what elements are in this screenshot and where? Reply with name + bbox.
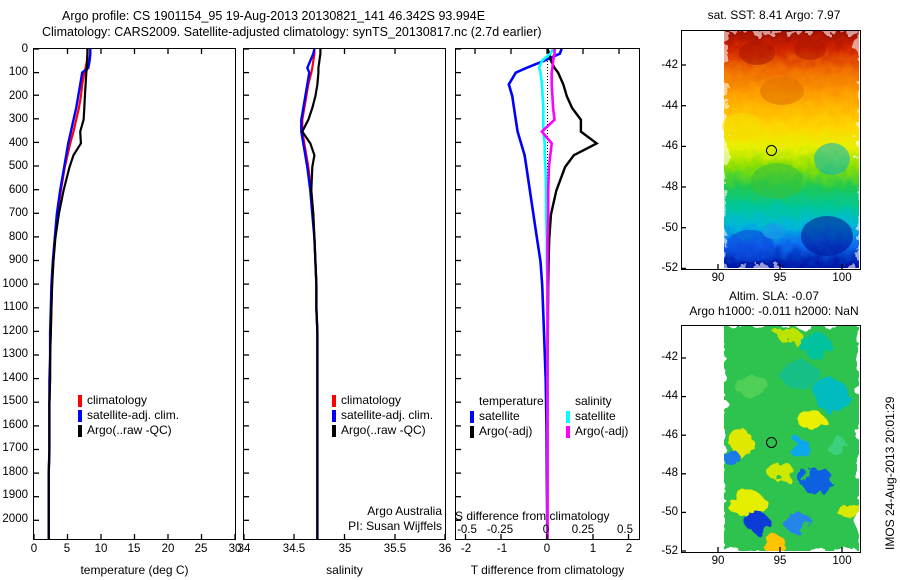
attribution-line1: Argo Australia bbox=[300, 504, 442, 519]
salinity-ytick-marks bbox=[243, 48, 251, 540]
legend-label: climatology bbox=[87, 393, 147, 408]
legend-group-title-salinity: salinity bbox=[566, 394, 628, 409]
legend-item-s-satellite: satellite bbox=[566, 409, 628, 424]
temperature-curves bbox=[34, 49, 235, 539]
legend-item-s-argo: Argo(-adj) bbox=[566, 424, 628, 439]
salinity-xtick-marks-top bbox=[243, 48, 446, 55]
climatology-color-swatch bbox=[332, 395, 336, 407]
temperature-axis-title: temperature (deg C) bbox=[33, 563, 236, 577]
legend-item-satellite-adj: satellite-adj. clim. bbox=[78, 408, 179, 423]
temperature-ytick-marks bbox=[33, 48, 41, 540]
difference-curves bbox=[456, 49, 639, 539]
satellite-adj-color-swatch bbox=[332, 410, 336, 422]
legend-item-satellite-adj: satellite-adj. clim. bbox=[332, 408, 433, 423]
argo-color-swatch bbox=[332, 425, 336, 437]
sla-map-ytick-marks bbox=[681, 325, 688, 553]
salinity-curves bbox=[244, 49, 445, 539]
legend-item-climatology: climatology bbox=[332, 393, 433, 408]
attribution-line2: PI: Susan Wijffels bbox=[300, 519, 442, 534]
legend-item-argo: Argo(..raw -QC) bbox=[78, 423, 179, 438]
legend-item-climatology: climatology bbox=[78, 393, 179, 408]
t-satellite-color-swatch bbox=[470, 411, 474, 423]
sla-map-xtick-marks bbox=[681, 547, 861, 554]
climatology-color-swatch bbox=[78, 395, 82, 407]
salinity-xtick-marks bbox=[243, 534, 446, 541]
s-satellite-color-swatch bbox=[566, 411, 570, 423]
profile-location-marker bbox=[766, 437, 777, 448]
sla-map-title-line1: Altim. SLA: -0.07 bbox=[679, 289, 869, 303]
difference-ytick-marks bbox=[455, 48, 463, 540]
legend-item-t-argo: Argo(-adj) bbox=[470, 424, 544, 439]
sst-map-title: sat. SST: 8.41 Argo: 7.97 bbox=[679, 8, 869, 22]
difference-axis-title-lower: T difference from climatology bbox=[455, 563, 640, 577]
legend-item-t-satellite: satellite bbox=[470, 409, 544, 424]
page-title-line2: Climatology: CARS2009. Satellite-adjuste… bbox=[42, 24, 542, 40]
salinity-axis-title: salinity bbox=[243, 563, 446, 577]
sst-map-ytick-marks bbox=[681, 30, 688, 270]
temperature-xtick-marks bbox=[33, 534, 236, 541]
difference-legend-salinity: salinity satellite Argo(-adj) bbox=[566, 394, 628, 439]
legend-label: satellite-adj. clim. bbox=[341, 408, 433, 423]
s-argo-color-swatch bbox=[566, 426, 570, 438]
legend-group-title-temperature: temperature bbox=[470, 394, 544, 409]
difference-xtick-marks-top bbox=[455, 48, 640, 55]
legend-label: climatology bbox=[341, 393, 401, 408]
imos-timestamp: IMOS 24-Aug-2013 20:01:29 bbox=[883, 397, 897, 550]
legend-label: satellite-adj. clim. bbox=[87, 408, 179, 423]
sla-map-title-line2: Argo h1000: -0.011 h2000: NaN bbox=[659, 304, 889, 318]
argo-color-swatch bbox=[78, 425, 82, 437]
legend-label: Argo(..raw -QC) bbox=[341, 423, 426, 438]
legend-label: Argo(..raw -QC) bbox=[87, 423, 172, 438]
temperature-xtick-marks-top bbox=[33, 48, 236, 55]
legend-label: satellite bbox=[479, 409, 520, 424]
t-argo-color-swatch bbox=[470, 426, 474, 438]
attribution-note: Argo Australia PI: Susan Wijffels bbox=[300, 504, 442, 534]
sst-map-xtick-marks bbox=[681, 264, 861, 271]
difference-legend-temperature: temperature satellite Argo(-adj) bbox=[470, 394, 544, 439]
page-title-line1: Argo profile: CS 1901154_95 19-Aug-2013 … bbox=[62, 8, 485, 24]
temperature-legend: climatology satellite-adj. clim. Argo(..… bbox=[78, 393, 179, 438]
legend-item-argo: Argo(..raw -QC) bbox=[332, 423, 433, 438]
profile-location-marker bbox=[766, 145, 777, 156]
legend-label: Argo(-adj) bbox=[575, 424, 628, 439]
difference-axis-title-upper: S difference from climatology bbox=[455, 509, 640, 523]
legend-label: satellite bbox=[575, 409, 616, 424]
salinity-legend: climatology satellite-adj. clim. Argo(..… bbox=[332, 393, 433, 438]
legend-label: Argo(-adj) bbox=[479, 424, 532, 439]
satellite-adj-color-swatch bbox=[78, 410, 82, 422]
